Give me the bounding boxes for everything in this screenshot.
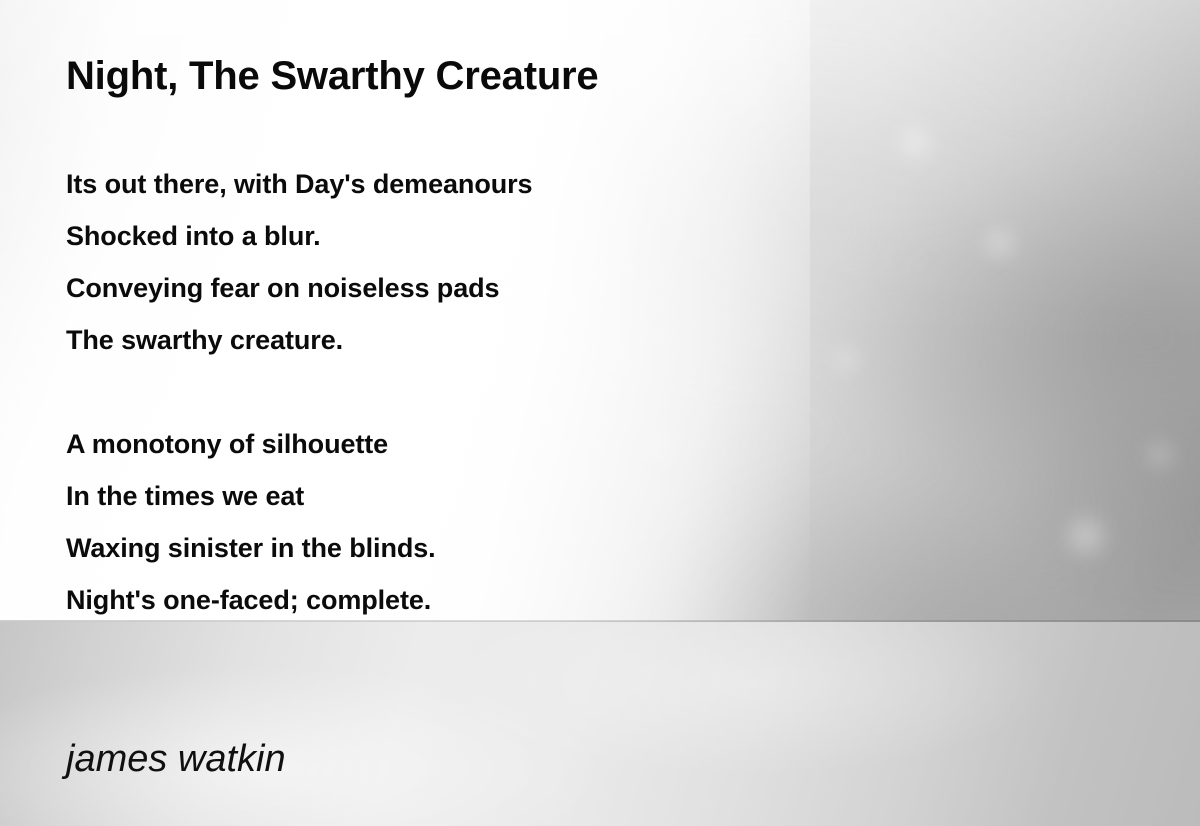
poem-line: Waxing sinister in the blinds. [66, 522, 766, 574]
poem-line: Conveying fear on noiseless pads [66, 262, 766, 314]
stanza: A monotony of silhouette In the times we… [66, 418, 766, 626]
poem-line: In the times we eat [66, 470, 766, 522]
poem-image-card: Night, The Swarthy Creature Its out ther… [0, 0, 1200, 826]
stanza: Its out there, with Day's demeanours Sho… [66, 158, 766, 366]
poem-body: Its out there, with Day's demeanours Sho… [66, 158, 766, 626]
poem-author: james watkin [66, 736, 286, 782]
poem-line: Night's one-faced; complete. [66, 574, 766, 626]
poem-line: Its out there, with Day's demeanours [66, 158, 766, 210]
poem-line: Shocked into a blur. [66, 210, 766, 262]
poem-content: Night, The Swarthy Creature Its out ther… [0, 0, 1200, 826]
poem-line: A monotony of silhouette [66, 418, 766, 470]
poem-title: Night, The Swarthy Creature [66, 52, 598, 100]
poem-line: The swarthy creature. [66, 314, 766, 366]
